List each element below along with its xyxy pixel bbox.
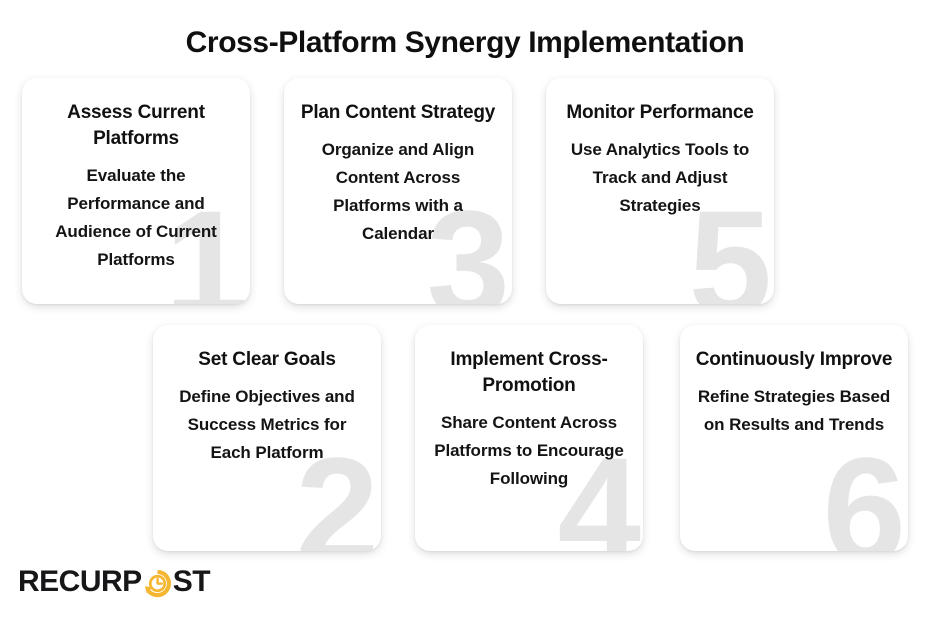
card-body: Define Objectives and Success Metrics fo… — [167, 383, 367, 467]
card-content: Plan Content Strategy Organize and Align… — [284, 78, 512, 304]
card-body: Share Content Across Platforms to Encour… — [429, 409, 629, 493]
recurpost-logo[interactable]: RECURP ST — [18, 565, 210, 599]
step-card-monitor-performance[interactable]: 5 Monitor Performance Use Analytics Tool… — [546, 78, 774, 304]
step-card-set-clear-goals[interactable]: 2 Set Clear Goals Define Objectives and … — [153, 325, 381, 551]
card-content: Monitor Performance Use Analytics Tools … — [546, 78, 774, 304]
card-heading: Implement Cross-Promotion — [429, 347, 629, 399]
card-content: Assess Current Platforms Evaluate the Pe… — [22, 78, 250, 304]
card-heading: Continuously Improve — [694, 347, 894, 373]
card-heading: Assess Current Platforms — [36, 100, 236, 152]
card-content: Continuously Improve Refine Strategies B… — [680, 325, 908, 551]
step-card-continuously-improve[interactable]: 6 Continuously Improve Refine Strategies… — [680, 325, 908, 551]
step-card-plan-content-strategy[interactable]: 3 Plan Content Strategy Organize and Ali… — [284, 78, 512, 304]
step-card-implement-cross-promotion[interactable]: 4 Implement Cross-Promotion Share Conten… — [415, 325, 643, 551]
card-body: Refine Strategies Based on Results and T… — [694, 383, 894, 439]
step-card-assess-current-platforms[interactable]: 1 Assess Current Platforms Evaluate the … — [22, 78, 250, 304]
card-content: Set Clear Goals Define Objectives and Su… — [153, 325, 381, 551]
infographic-page: Cross-Platform Synergy Implementation 1 … — [0, 0, 930, 620]
logo-text-after: ST — [173, 567, 210, 597]
card-body: Evaluate the Performance and Audience of… — [36, 162, 236, 274]
card-body: Use Analytics Tools to Track and Adjust … — [560, 136, 760, 220]
card-body: Organize and Align Content Across Platfo… — [298, 136, 498, 248]
clock-refresh-icon — [143, 569, 172, 598]
page-title: Cross-Platform Synergy Implementation — [0, 24, 930, 62]
card-heading: Set Clear Goals — [167, 347, 367, 373]
logo-text-before: RECURP — [18, 567, 142, 597]
card-content: Implement Cross-Promotion Share Content … — [415, 325, 643, 551]
card-heading: Plan Content Strategy — [298, 100, 498, 126]
card-heading: Monitor Performance — [560, 100, 760, 126]
